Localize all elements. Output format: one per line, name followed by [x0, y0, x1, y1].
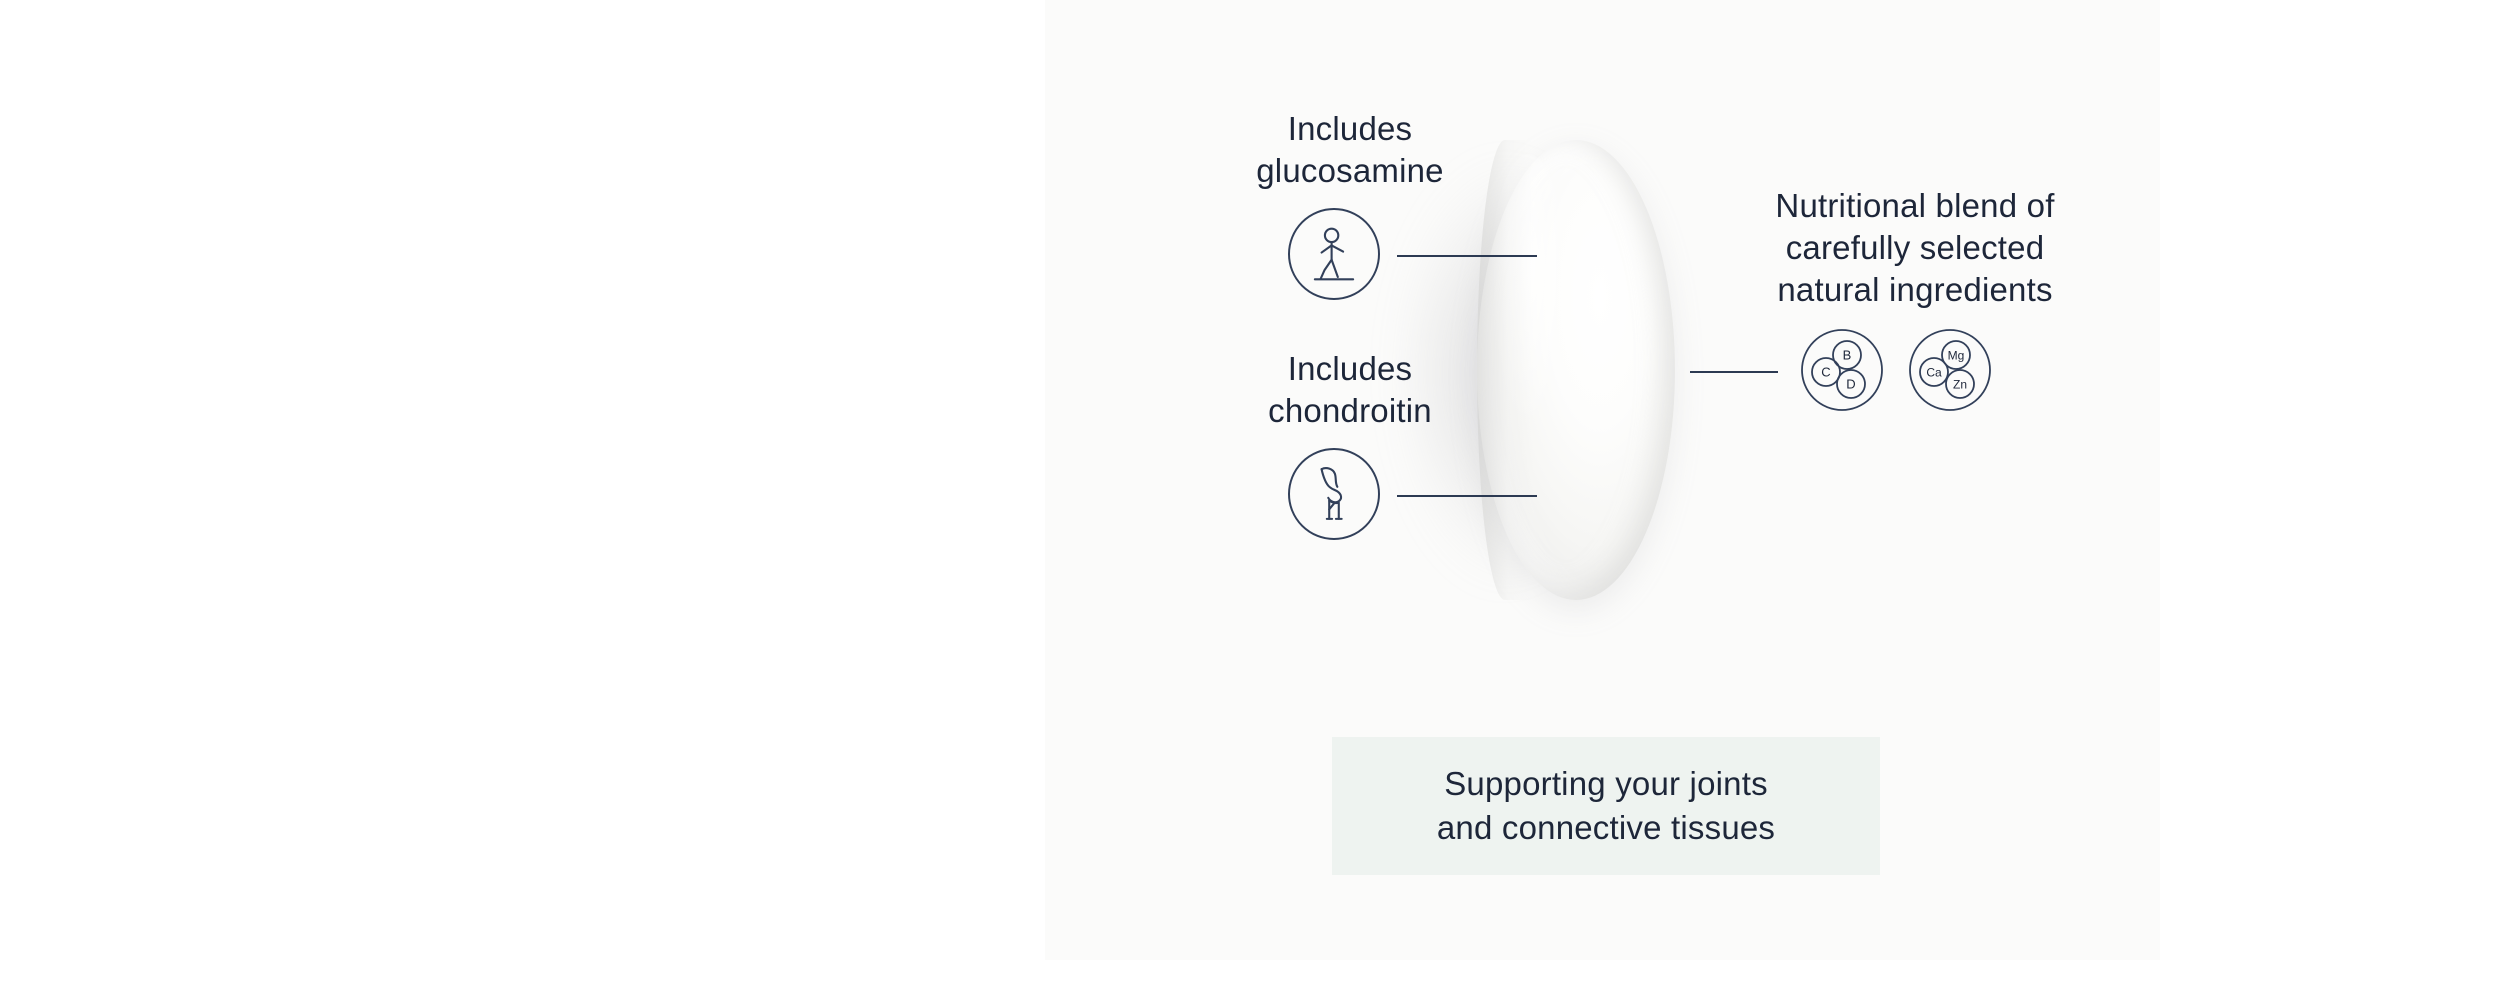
vitamin-label-d: D — [1846, 377, 1855, 392]
mineral-label-ca: Ca — [1926, 366, 1942, 380]
knee-joint-icon — [1288, 448, 1380, 540]
product-infographic: Includes glucosamine Includes chondroiti… — [0, 0, 2500, 1000]
feature-label-chondroitin: Includes chondroitin — [1180, 348, 1520, 432]
caption-text: Supporting your joints and connective ti… — [1437, 762, 1775, 850]
vitamin-label-c: C — [1821, 365, 1830, 380]
walking-person-icon — [1288, 208, 1380, 300]
feature-label-glucosamine: Includes glucosamine — [1180, 108, 1520, 192]
connector-line-glucosamine — [1397, 255, 1537, 257]
mineral-label-zn: Zn — [1953, 378, 1967, 392]
caption-banner: Supporting your joints and connective ti… — [1332, 737, 1880, 875]
mineral-label-mg: Mg — [1948, 349, 1965, 363]
connector-line-chondroitin — [1397, 495, 1537, 497]
minerals-cluster-icon: Ca Mg Zn — [1908, 328, 1992, 412]
vitamin-label-b: B — [1843, 348, 1852, 363]
feature-label-nutritional-blend: Nutritional blend of carefully selected … — [1725, 185, 2105, 312]
connector-line-nutritional-blend — [1690, 371, 1778, 373]
vitamins-cluster-icon: C B D — [1800, 328, 1884, 412]
